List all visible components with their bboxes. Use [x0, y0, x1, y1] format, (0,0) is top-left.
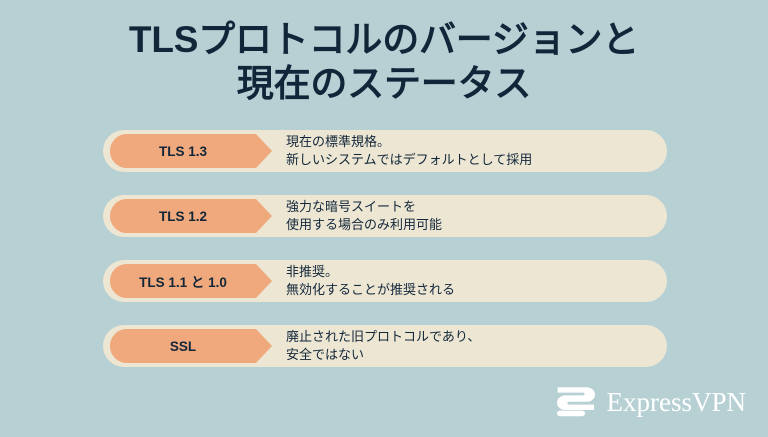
protocol-description-line-2: 無効化することが推奨される	[286, 281, 655, 299]
protocol-description-line-2: 新しいシステムではデフォルトとして採用	[286, 151, 655, 169]
protocol-badge: TLS 1.2	[110, 199, 272, 233]
protocol-badge: SSL	[110, 329, 272, 363]
protocol-description-line-1: 廃止された旧プロトコルであり、	[286, 328, 655, 346]
page-title-line-1: TLSプロトコルのバージョンと	[0, 18, 768, 62]
table-row: TLS 1.1 と 1.0 非推奨。 無効化することが推奨される	[103, 260, 667, 302]
table-row: SSL 廃止された旧プロトコルであり、 安全ではない	[103, 325, 667, 367]
protocol-badge-label: SSL	[170, 339, 196, 354]
page-title-line-2: 現在のステータス	[0, 62, 768, 106]
protocol-badge-label: TLS 1.3	[159, 144, 207, 159]
protocol-description-line-2: 安全ではない	[286, 346, 655, 364]
protocol-badge-label: TLS 1.1 と 1.0	[139, 271, 227, 291]
protocol-badge: TLS 1.1 と 1.0	[110, 264, 272, 298]
page-title: TLSプロトコルのバージョンと 現在のステータス	[0, 18, 768, 106]
protocol-description: 現在の標準規格。 新しいシステムではデフォルトとして採用	[272, 130, 667, 172]
protocol-list: TLS 1.3 現在の標準規格。 新しいシステムではデフォルトとして採用 TLS…	[103, 130, 667, 367]
protocol-description-line-1: 強力な暗号スイートを	[286, 198, 655, 216]
protocol-description-line-1: 現在の標準規格。	[286, 133, 655, 151]
protocol-description-line-1: 非推奨。	[286, 263, 655, 281]
infographic-canvas: TLSプロトコルのバージョンと 現在のステータス TLS 1.3 現在の標準規格…	[0, 0, 768, 437]
expressvpn-logo: ExpressVPN	[556, 385, 747, 419]
protocol-description-line-2: 使用する場合のみ利用可能	[286, 216, 655, 234]
protocol-description: 非推奨。 無効化することが推奨される	[272, 260, 667, 302]
expressvpn-wordmark: ExpressVPN	[607, 389, 747, 416]
protocol-badge-label: TLS 1.2	[159, 209, 207, 224]
protocol-badge: TLS 1.3	[110, 134, 272, 168]
table-row: TLS 1.3 現在の標準規格。 新しいシステムではデフォルトとして採用	[103, 130, 667, 172]
protocol-description: 廃止された旧プロトコルであり、 安全ではない	[272, 325, 667, 367]
protocol-description: 強力な暗号スイートを 使用する場合のみ利用可能	[272, 195, 667, 237]
table-row: TLS 1.2 強力な暗号スイートを 使用する場合のみ利用可能	[103, 195, 667, 237]
expressvpn-e-mark-icon	[556, 385, 596, 419]
